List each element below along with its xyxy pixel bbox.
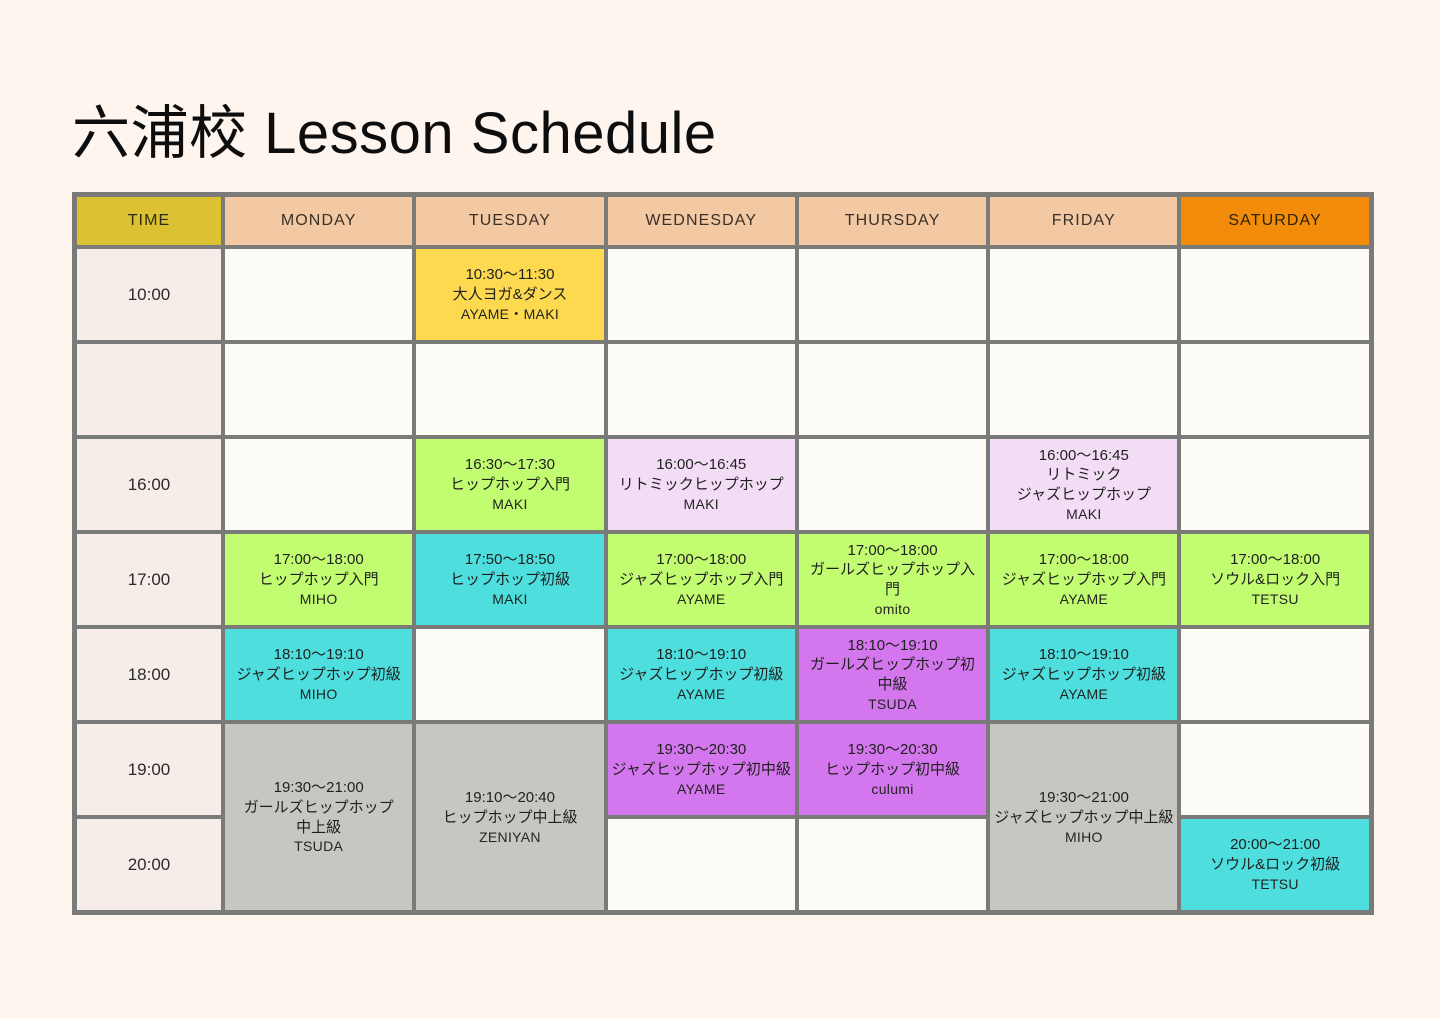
slot-saturday-1600 bbox=[1179, 437, 1370, 532]
lesson-card: 19:30〜21:00 ガールズヒップホップ 中上級 TSUDA bbox=[225, 724, 412, 910]
table-row-spacer bbox=[75, 342, 1371, 437]
table-row-1600: 16:00 16:30〜17:30 ヒップホップ入門 MAKI 16:00〜16… bbox=[75, 437, 1371, 532]
slot-monday-spacer bbox=[223, 342, 414, 437]
lesson-time: 18:10〜19:10 bbox=[848, 636, 938, 656]
lesson-teacher: MAKI bbox=[492, 495, 527, 513]
lesson-name: ジャズヒップホップ中上級 bbox=[994, 808, 1173, 828]
header-monday: MONDAY bbox=[223, 195, 414, 247]
lesson-time: 16:00〜16:45 bbox=[1039, 446, 1129, 466]
lesson-teacher: AYAME bbox=[1060, 685, 1108, 703]
lesson-name: ソウル&ロック入門 bbox=[1210, 570, 1340, 590]
lesson-teacher: culumi bbox=[871, 780, 913, 798]
lesson-teacher: AYAME bbox=[1060, 590, 1108, 608]
header-tuesday: TUESDAY bbox=[414, 195, 605, 247]
header-friday: FRIDAY bbox=[988, 195, 1179, 247]
lesson-time: 10:30〜11:30 bbox=[465, 265, 554, 285]
lesson-time: 19:30〜20:30 bbox=[656, 740, 746, 760]
time-label-1000: 10:00 bbox=[75, 247, 223, 342]
lesson-name: ヒップホップ中上級 bbox=[442, 808, 577, 828]
slot-wednesday-1000 bbox=[606, 247, 797, 342]
lesson-name: 大人ヨガ&ダンス bbox=[453, 285, 568, 305]
slot-wednesday-1900[interactable]: 19:30〜20:30 ジャズヒップホップ初中級 AYAME bbox=[606, 722, 797, 817]
page-title: 六浦校 Lesson Schedule bbox=[72, 101, 717, 168]
slot-monday-1000 bbox=[223, 247, 414, 342]
lesson-card: 18:10〜19:10 ジャズヒップホップ初級 AYAME bbox=[608, 629, 795, 720]
lesson-card: 16:30〜17:30 ヒップホップ入門 MAKI bbox=[416, 439, 603, 530]
lesson-teacher: TSUDA bbox=[294, 837, 343, 855]
lesson-teacher: MIHO bbox=[1065, 828, 1103, 846]
lesson-card: 20:00〜21:00 ソウル&ロック初級 TETSU bbox=[1181, 819, 1368, 910]
lesson-time: 19:30〜21:00 bbox=[274, 778, 364, 798]
lesson-teacher: MAKI bbox=[1066, 505, 1101, 523]
lesson-name: ジャズヒップホップ入門 bbox=[1002, 570, 1166, 590]
lesson-time: 17:00〜18:00 bbox=[274, 550, 364, 570]
lesson-teacher: omito bbox=[875, 600, 911, 618]
lesson-teacher: MIHO bbox=[300, 685, 338, 703]
lesson-name: ガールズヒップホップ初中級 bbox=[803, 655, 982, 695]
slot-saturday-1900 bbox=[1179, 722, 1370, 817]
slot-tuesday-1000[interactable]: 10:30〜11:30 大人ヨガ&ダンス AYAME・MAKI bbox=[414, 247, 605, 342]
header-time: TIME bbox=[75, 195, 223, 247]
lesson-time: 19:30〜20:30 bbox=[848, 740, 938, 760]
lesson-name: ガールズヒップホップ入門 bbox=[803, 560, 982, 600]
slot-friday-1000 bbox=[988, 247, 1179, 342]
slot-tuesday-spacer bbox=[414, 342, 605, 437]
lesson-card: 17:00〜18:00 ヒップホップ入門 MIHO bbox=[225, 534, 412, 625]
lesson-time: 16:00〜16:45 bbox=[656, 455, 746, 475]
slot-thursday-1700[interactable]: 17:00〜18:00 ガールズヒップホップ入門 omito bbox=[797, 532, 988, 627]
lesson-name: ガールズヒップホップ bbox=[244, 798, 394, 818]
slot-saturday-spacer bbox=[1179, 342, 1370, 437]
time-label-1600: 16:00 bbox=[75, 437, 223, 532]
slot-monday-1900[interactable]: 19:30〜21:00 ガールズヒップホップ 中上級 TSUDA bbox=[223, 722, 414, 912]
lesson-card: 17:00〜18:00 ガールズヒップホップ入門 omito bbox=[799, 534, 986, 625]
slot-wednesday-1800[interactable]: 18:10〜19:10 ジャズヒップホップ初級 AYAME bbox=[606, 627, 797, 722]
lesson-teacher: MIHO bbox=[300, 590, 338, 608]
lesson-card: 17:00〜18:00 ジャズヒップホップ入門 AYAME bbox=[990, 534, 1177, 625]
table-row-1000: 10:00 10:30〜11:30 大人ヨガ&ダンス AYAME・MAKI bbox=[75, 247, 1371, 342]
header-saturday: SATURDAY bbox=[1179, 195, 1370, 247]
time-label-1800: 18:00 bbox=[75, 627, 223, 722]
lesson-card: 19:30〜21:00 ジャズヒップホップ中上級 MIHO bbox=[990, 724, 1177, 910]
lesson-card: 18:10〜19:10 ガールズヒップホップ初中級 TSUDA bbox=[799, 629, 986, 720]
lesson-time: 19:10〜20:40 bbox=[465, 788, 555, 808]
lesson-card: 17:00〜18:00 ジャズヒップホップ入門 AYAME bbox=[608, 534, 795, 625]
lesson-name: リトミック bbox=[1046, 465, 1121, 485]
lesson-teacher: ZENIYAN bbox=[479, 828, 541, 846]
slot-thursday-1600 bbox=[797, 437, 988, 532]
slot-wednesday-2000 bbox=[606, 817, 797, 912]
header-wednesday: WEDNESDAY bbox=[606, 195, 797, 247]
slot-thursday-spacer bbox=[797, 342, 988, 437]
lesson-teacher: AYAME・MAKI bbox=[461, 305, 559, 323]
schedule-table-container: TIME MONDAY TUESDAY WEDNESDAY THURSDAY F… bbox=[72, 192, 1368, 915]
slot-thursday-1900[interactable]: 19:30〜20:30 ヒップホップ初中級 culumi bbox=[797, 722, 988, 817]
lesson-name-line2: 中上級 bbox=[296, 818, 341, 838]
lesson-teacher: MAKI bbox=[684, 495, 719, 513]
slot-friday-1900[interactable]: 19:30〜21:00 ジャズヒップホップ中上級 MIHO bbox=[988, 722, 1179, 912]
table-header-row: TIME MONDAY TUESDAY WEDNESDAY THURSDAY F… bbox=[75, 195, 1371, 247]
lesson-teacher: AYAME bbox=[677, 590, 725, 608]
slot-monday-1800[interactable]: 18:10〜19:10 ジャズヒップホップ初級 MIHO bbox=[223, 627, 414, 722]
lesson-name: ジャズヒップホップ初級 bbox=[237, 665, 401, 685]
lesson-card: 17:00〜18:00 ソウル&ロック入門 TETSU bbox=[1181, 534, 1368, 625]
lesson-time: 17:50〜18:50 bbox=[465, 550, 555, 570]
slot-tuesday-1700[interactable]: 17:50〜18:50 ヒップホップ初級 MAKI bbox=[414, 532, 605, 627]
slot-wednesday-1600[interactable]: 16:00〜16:45 リトミックヒップホップ MAKI bbox=[606, 437, 797, 532]
lesson-card: 16:00〜16:45 リトミック ジャズヒップホップ MAKI bbox=[990, 439, 1177, 530]
lesson-name: リトミックヒップホップ bbox=[619, 475, 784, 495]
lesson-name: ジャズヒップホップ初中級 bbox=[612, 760, 791, 780]
lesson-teacher: TETSU bbox=[1251, 875, 1298, 893]
time-label-1700: 17:00 bbox=[75, 532, 223, 627]
slot-thursday-2000 bbox=[797, 817, 988, 912]
table-row-1700: 17:00 17:00〜18:00 ヒップホップ入門 MIHO 17:50〜18… bbox=[75, 532, 1371, 627]
lesson-card: 16:00〜16:45 リトミックヒップホップ MAKI bbox=[608, 439, 795, 530]
lesson-name-line2: ジャズヒップホップ bbox=[1017, 485, 1151, 505]
slot-tuesday-1800 bbox=[414, 627, 605, 722]
lesson-time: 17:00〜18:00 bbox=[1230, 550, 1320, 570]
lesson-name: ソウル&ロック初級 bbox=[1210, 855, 1340, 875]
lesson-teacher: TSUDA bbox=[868, 695, 917, 713]
lesson-time: 19:30〜21:00 bbox=[1039, 788, 1129, 808]
lesson-name: ジャズヒップホップ初級 bbox=[1002, 665, 1166, 685]
lesson-name: ヒップホップ入門 bbox=[259, 570, 379, 590]
slot-saturday-1800 bbox=[1179, 627, 1370, 722]
lesson-name: ヒップホップ入門 bbox=[450, 475, 570, 495]
time-label-2000: 20:00 bbox=[75, 817, 223, 912]
lesson-name: ヒップホップ初中級 bbox=[825, 760, 960, 780]
lesson-schedule-page: 六浦校 Lesson Schedule TIME MONDAY TUESDAY … bbox=[0, 0, 1440, 1018]
lesson-time: 20:00〜21:00 bbox=[1230, 835, 1320, 855]
lesson-card: 10:30〜11:30 大人ヨガ&ダンス AYAME・MAKI bbox=[416, 249, 603, 340]
header-thursday: THURSDAY bbox=[797, 195, 988, 247]
slot-saturday-2000[interactable]: 20:00〜21:00 ソウル&ロック初級 TETSU bbox=[1179, 817, 1370, 912]
schedule-table: TIME MONDAY TUESDAY WEDNESDAY THURSDAY F… bbox=[72, 192, 1374, 915]
lesson-time: 18:10〜19:10 bbox=[1039, 645, 1129, 665]
lesson-teacher: MAKI bbox=[492, 590, 527, 608]
lesson-card: 18:10〜19:10 ジャズヒップホップ初級 AYAME bbox=[990, 629, 1177, 720]
lesson-card: 19:30〜20:30 ジャズヒップホップ初中級 AYAME bbox=[608, 724, 795, 815]
lesson-time: 17:00〜18:00 bbox=[656, 550, 746, 570]
lesson-card: 18:10〜19:10 ジャズヒップホップ初級 MIHO bbox=[225, 629, 412, 720]
slot-tuesday-1900[interactable]: 19:10〜20:40 ヒップホップ中上級 ZENIYAN bbox=[414, 722, 605, 912]
slot-friday-spacer bbox=[988, 342, 1179, 437]
lesson-time: 18:10〜19:10 bbox=[274, 645, 364, 665]
slot-friday-1800[interactable]: 18:10〜19:10 ジャズヒップホップ初級 AYAME bbox=[988, 627, 1179, 722]
lesson-card: 17:50〜18:50 ヒップホップ初級 MAKI bbox=[416, 534, 603, 625]
slot-saturday-1700[interactable]: 17:00〜18:00 ソウル&ロック入門 TETSU bbox=[1179, 532, 1370, 627]
lesson-time: 17:00〜18:00 bbox=[848, 541, 938, 561]
slot-friday-1700[interactable]: 17:00〜18:00 ジャズヒップホップ入門 AYAME bbox=[988, 532, 1179, 627]
lesson-time: 16:30〜17:30 bbox=[465, 455, 555, 475]
lesson-teacher: AYAME bbox=[677, 685, 725, 703]
slot-wednesday-1700[interactable]: 17:00〜18:00 ジャズヒップホップ入門 AYAME bbox=[606, 532, 797, 627]
lesson-name: ジャズヒップホップ初級 bbox=[619, 665, 783, 685]
table-row-1900: 19:00 19:30〜21:00 ガールズヒップホップ 中上級 TSUDA 1… bbox=[75, 722, 1371, 817]
slot-friday-1600[interactable]: 16:00〜16:45 リトミック ジャズヒップホップ MAKI bbox=[988, 437, 1179, 532]
slot-thursday-1800[interactable]: 18:10〜19:10 ガールズヒップホップ初中級 TSUDA bbox=[797, 627, 988, 722]
lesson-time: 18:10〜19:10 bbox=[656, 645, 746, 665]
slot-wednesday-spacer bbox=[606, 342, 797, 437]
lesson-teacher: AYAME bbox=[677, 780, 725, 798]
slot-tuesday-1600[interactable]: 16:30〜17:30 ヒップホップ入門 MAKI bbox=[414, 437, 605, 532]
time-label-spacer bbox=[75, 342, 223, 437]
table-row-1800: 18:00 18:10〜19:10 ジャズヒップホップ初級 MIHO 18:10… bbox=[75, 627, 1371, 722]
slot-thursday-1000 bbox=[797, 247, 988, 342]
time-label-1900: 19:00 bbox=[75, 722, 223, 817]
slot-monday-1700[interactable]: 17:00〜18:00 ヒップホップ入門 MIHO bbox=[223, 532, 414, 627]
lesson-teacher: TETSU bbox=[1251, 590, 1298, 608]
lesson-name: ヒップホップ初級 bbox=[450, 570, 570, 590]
lesson-time: 17:00〜18:00 bbox=[1039, 550, 1129, 570]
lesson-card: 19:30〜20:30 ヒップホップ初中級 culumi bbox=[799, 724, 986, 815]
slot-monday-1600 bbox=[223, 437, 414, 532]
lesson-name: ジャズヒップホップ入門 bbox=[619, 570, 783, 590]
slot-saturday-1000 bbox=[1179, 247, 1370, 342]
lesson-card: 19:10〜20:40 ヒップホップ中上級 ZENIYAN bbox=[416, 724, 603, 910]
